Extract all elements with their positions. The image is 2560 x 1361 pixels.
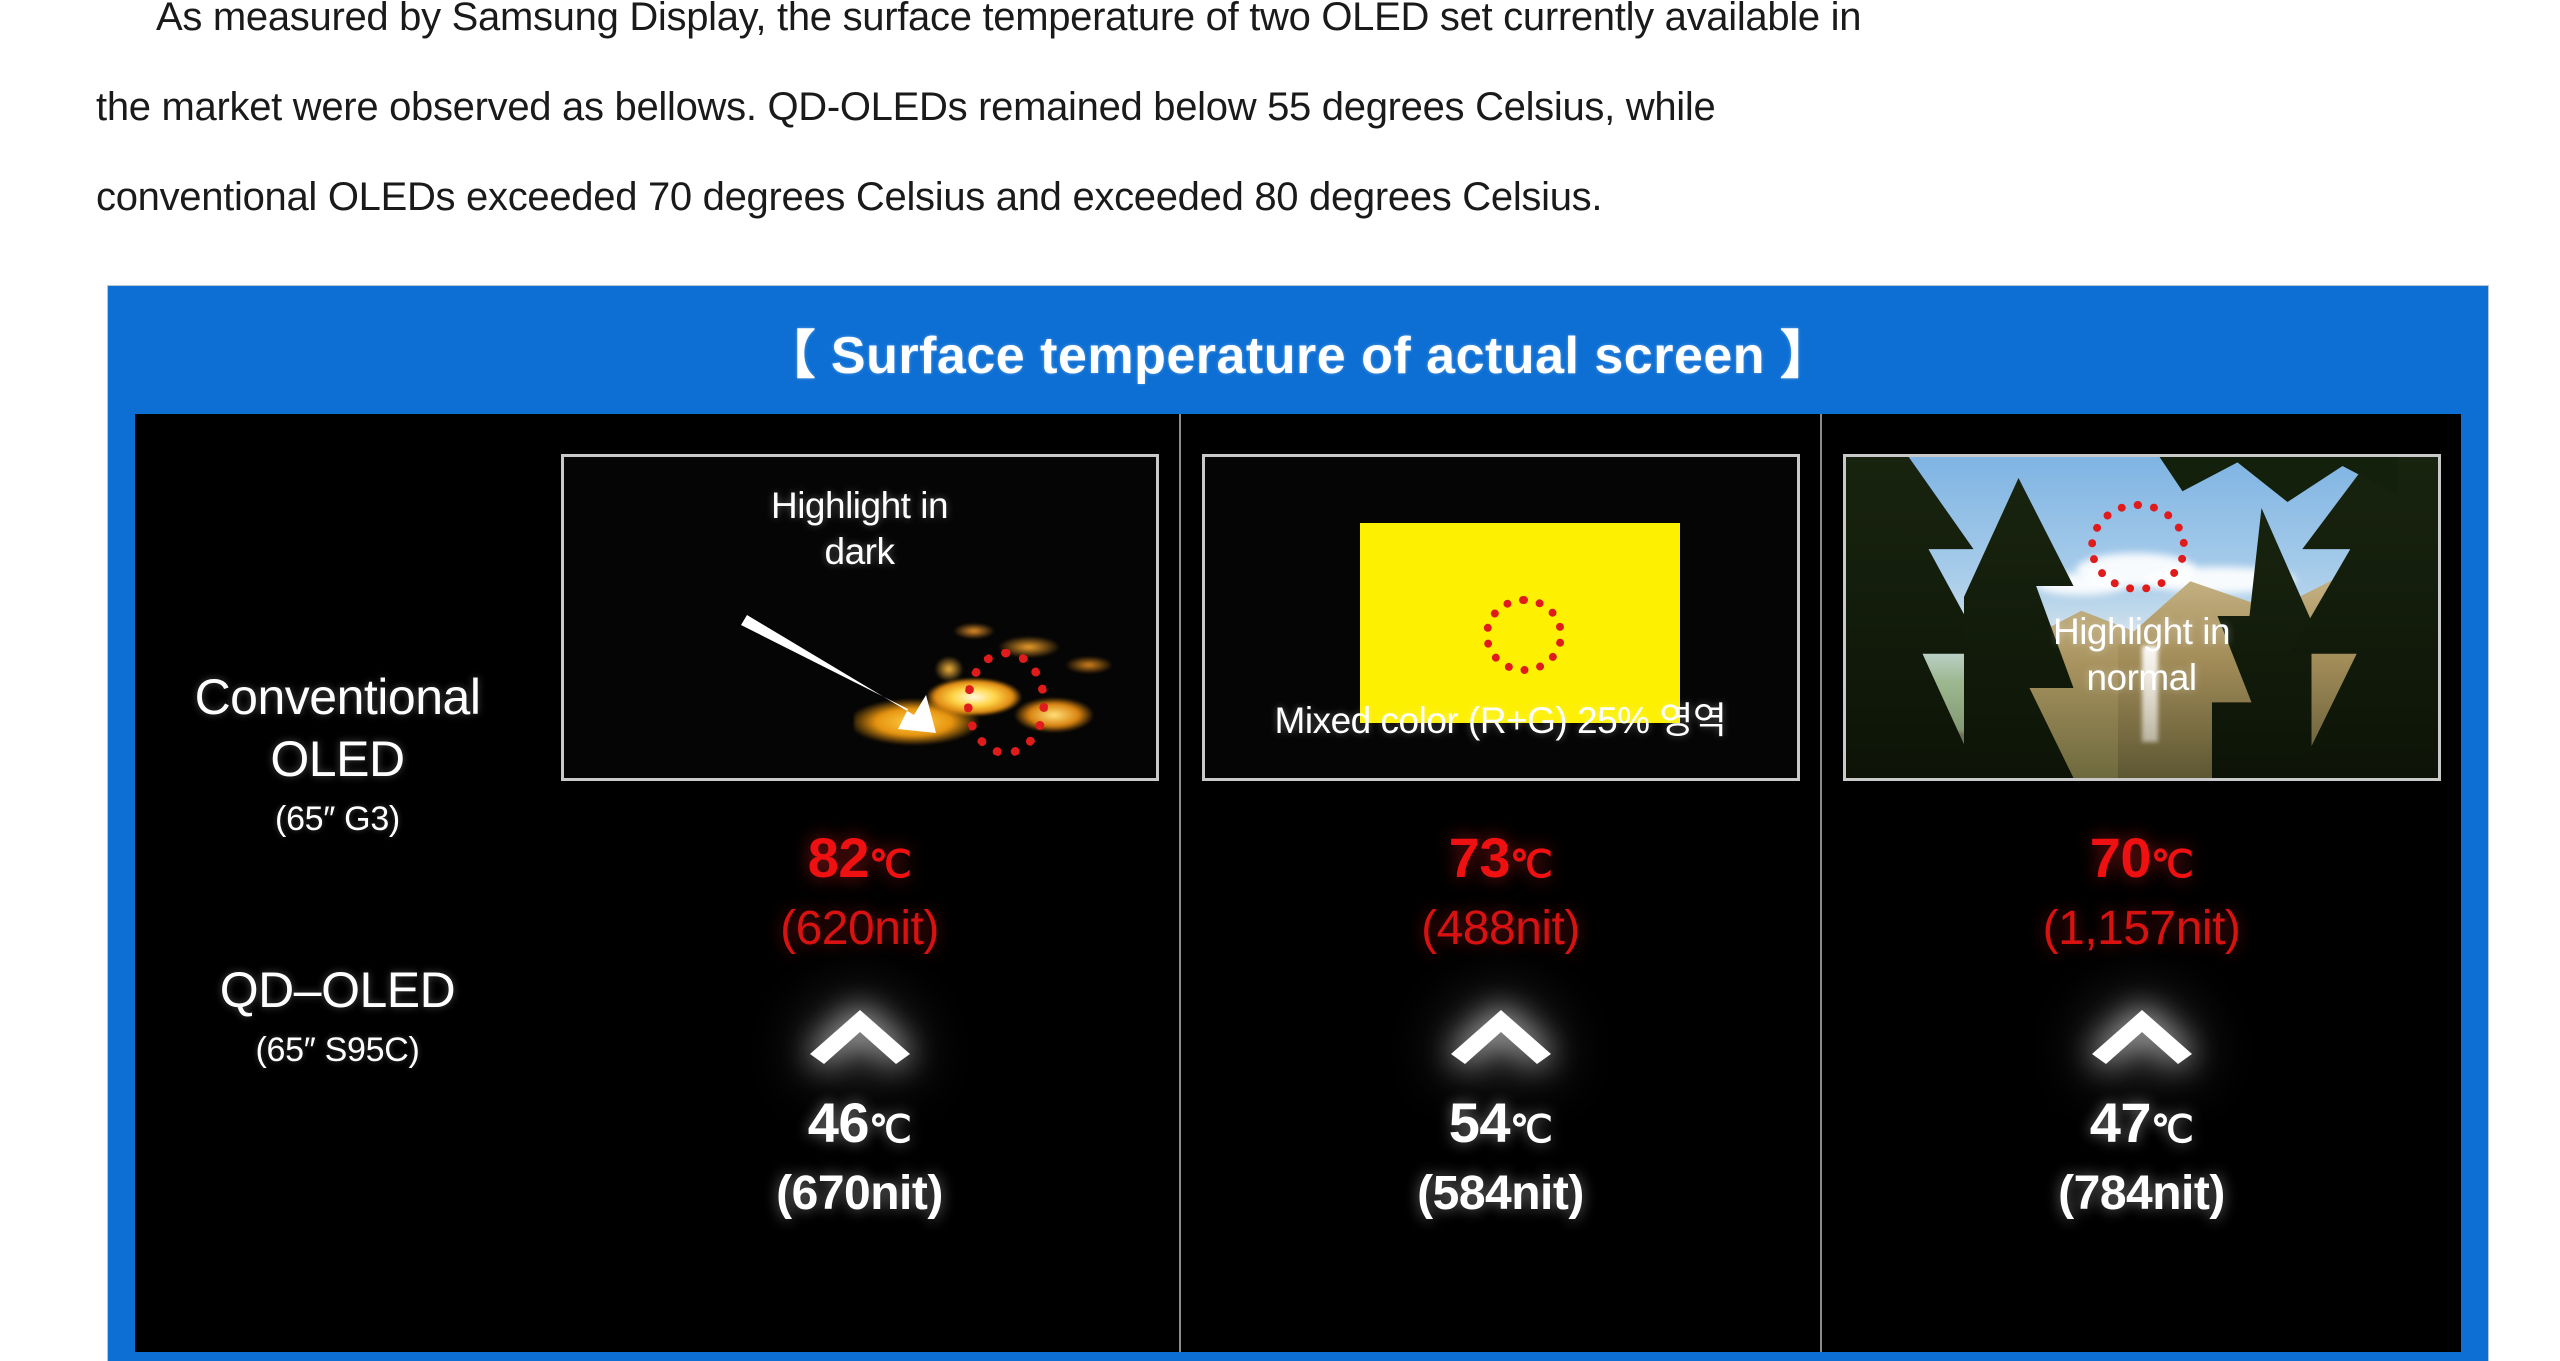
highlight-region-circle-icon: [1483, 596, 1565, 674]
reading-conventional-col3: 70℃ (1,157nit): [1822, 825, 2461, 960]
nit-conventional-col1: (620nit): [540, 898, 1179, 960]
nit-qdoled-col2: (584nit): [1181, 1163, 1820, 1225]
degree-unit: ℃: [2151, 844, 2193, 886]
intro-paragraph: As measured by Samsung Display, the surf…: [96, 0, 2496, 242]
degree-unit: ℃: [869, 1109, 911, 1151]
nit-conventional-col3: (1,157nit): [1822, 898, 2461, 960]
tv-caption-mixed-color: Mixed color (R+G) 25% 영역: [1205, 698, 1797, 744]
chevron-up-icon: [804, 1002, 916, 1066]
temp-qdoled-col1: 46℃: [540, 1090, 1179, 1163]
qd-oled-name: QD–OLED: [135, 959, 540, 1021]
qd-oled-model: (65″ S95C): [135, 1025, 540, 1075]
tv-caption-highlight-in-normal: Highlight in normal: [1846, 609, 2438, 701]
degree-unit: ℃: [2151, 1109, 2193, 1151]
highlight-region-circle-icon: [2088, 501, 2188, 593]
tv-caption-line-2: normal: [1846, 655, 2438, 701]
nit-qdoled-col1: (670nit): [540, 1163, 1179, 1225]
highlight-region-circle-icon: [964, 649, 1048, 757]
chevron-up-icon: [1445, 1002, 1557, 1066]
temp-conventional-col2: 73℃: [1181, 825, 1820, 898]
tv-caption-line-1: Highlight in: [1846, 609, 2438, 655]
tv-screenshot-mixed-color: Mixed color (R+G) 25% 영역: [1202, 454, 1800, 781]
reading-qdoled-col2: 54℃ (584nit): [1181, 1090, 1820, 1225]
page-root: As measured by Samsung Display, the surf…: [0, 0, 2560, 1361]
improvement-chevron-col3: [2086, 986, 2198, 1082]
measurement-columns: Highlight in dark 82℃ (620nit): [540, 414, 2461, 1352]
row-label-qd-oled: QD–OLED (65″ S95C): [135, 959, 540, 1075]
temp-qdoled-col3: 47℃: [1822, 1090, 2461, 1163]
reading-conventional-col1: 82℃ (620nit): [540, 825, 1179, 960]
chevron-up-icon: [2086, 1002, 2198, 1066]
nit-conventional-col2: (488nit): [1181, 898, 1820, 960]
improvement-chevron-col2: [1445, 986, 1557, 1082]
column-highlight-in-normal: Highlight in normal 70℃ (1,157nit): [1820, 414, 2461, 1352]
tv-screenshot-highlight-in-normal: Highlight in normal: [1843, 454, 2441, 781]
tv-caption-line-2: dark: [564, 529, 1156, 575]
row-label-conventional-oled: Conventional OLED (65″ G3): [135, 666, 540, 844]
nit-qdoled-col3: (784nit): [1822, 1163, 2461, 1225]
figure-title: 【 Surface temperature of actual screen 】: [108, 286, 2488, 414]
tv-screenshot-highlight-in-dark: Highlight in dark: [561, 454, 1159, 781]
temperature-figure: 【 Surface temperature of actual screen 】…: [108, 286, 2488, 1361]
row-label-column: Conventional OLED (65″ G3) QD–OLED (65″ …: [135, 414, 540, 1352]
reading-qdoled-col1: 46℃ (670nit): [540, 1090, 1179, 1225]
column-mixed-color: Mixed color (R+G) 25% 영역 73℃ (488nit) 54…: [1179, 414, 1820, 1352]
intro-line-1: As measured by Samsung Display, the surf…: [96, 0, 2496, 62]
conventional-oled-name: Conventional: [135, 666, 540, 728]
tv-caption-highlight-in-dark: Highlight in dark: [564, 483, 1156, 575]
improvement-chevron-col1: [804, 986, 916, 1082]
temp-conventional-col1: 82℃: [540, 825, 1179, 898]
intro-line-2: the market were observed as bellows. QD-…: [96, 62, 2496, 152]
tv-caption-line-1: Mixed color (R+G) 25% 영역: [1205, 698, 1797, 744]
degree-unit: ℃: [1510, 844, 1552, 886]
temp-qdoled-col2: 54℃: [1181, 1090, 1820, 1163]
column-highlight-in-dark: Highlight in dark 82℃ (620nit): [540, 414, 1179, 1352]
temp-conventional-col3: 70℃: [1822, 825, 2461, 898]
conventional-oled-model: (65″ G3): [135, 794, 540, 844]
figure-stage: Conventional OLED (65″ G3) QD–OLED (65″ …: [135, 414, 2461, 1352]
reading-qdoled-col3: 47℃ (784nit): [1822, 1090, 2461, 1225]
degree-unit: ℃: [1510, 1109, 1552, 1151]
reading-conventional-col2: 73℃ (488nit): [1181, 825, 1820, 960]
intro-line-3: conventional OLEDs exceeded 70 degrees C…: [96, 152, 2496, 242]
degree-unit: ℃: [869, 844, 911, 886]
tv-caption-line-1: Highlight in: [564, 483, 1156, 529]
conventional-oled-name2: OLED: [135, 728, 540, 790]
